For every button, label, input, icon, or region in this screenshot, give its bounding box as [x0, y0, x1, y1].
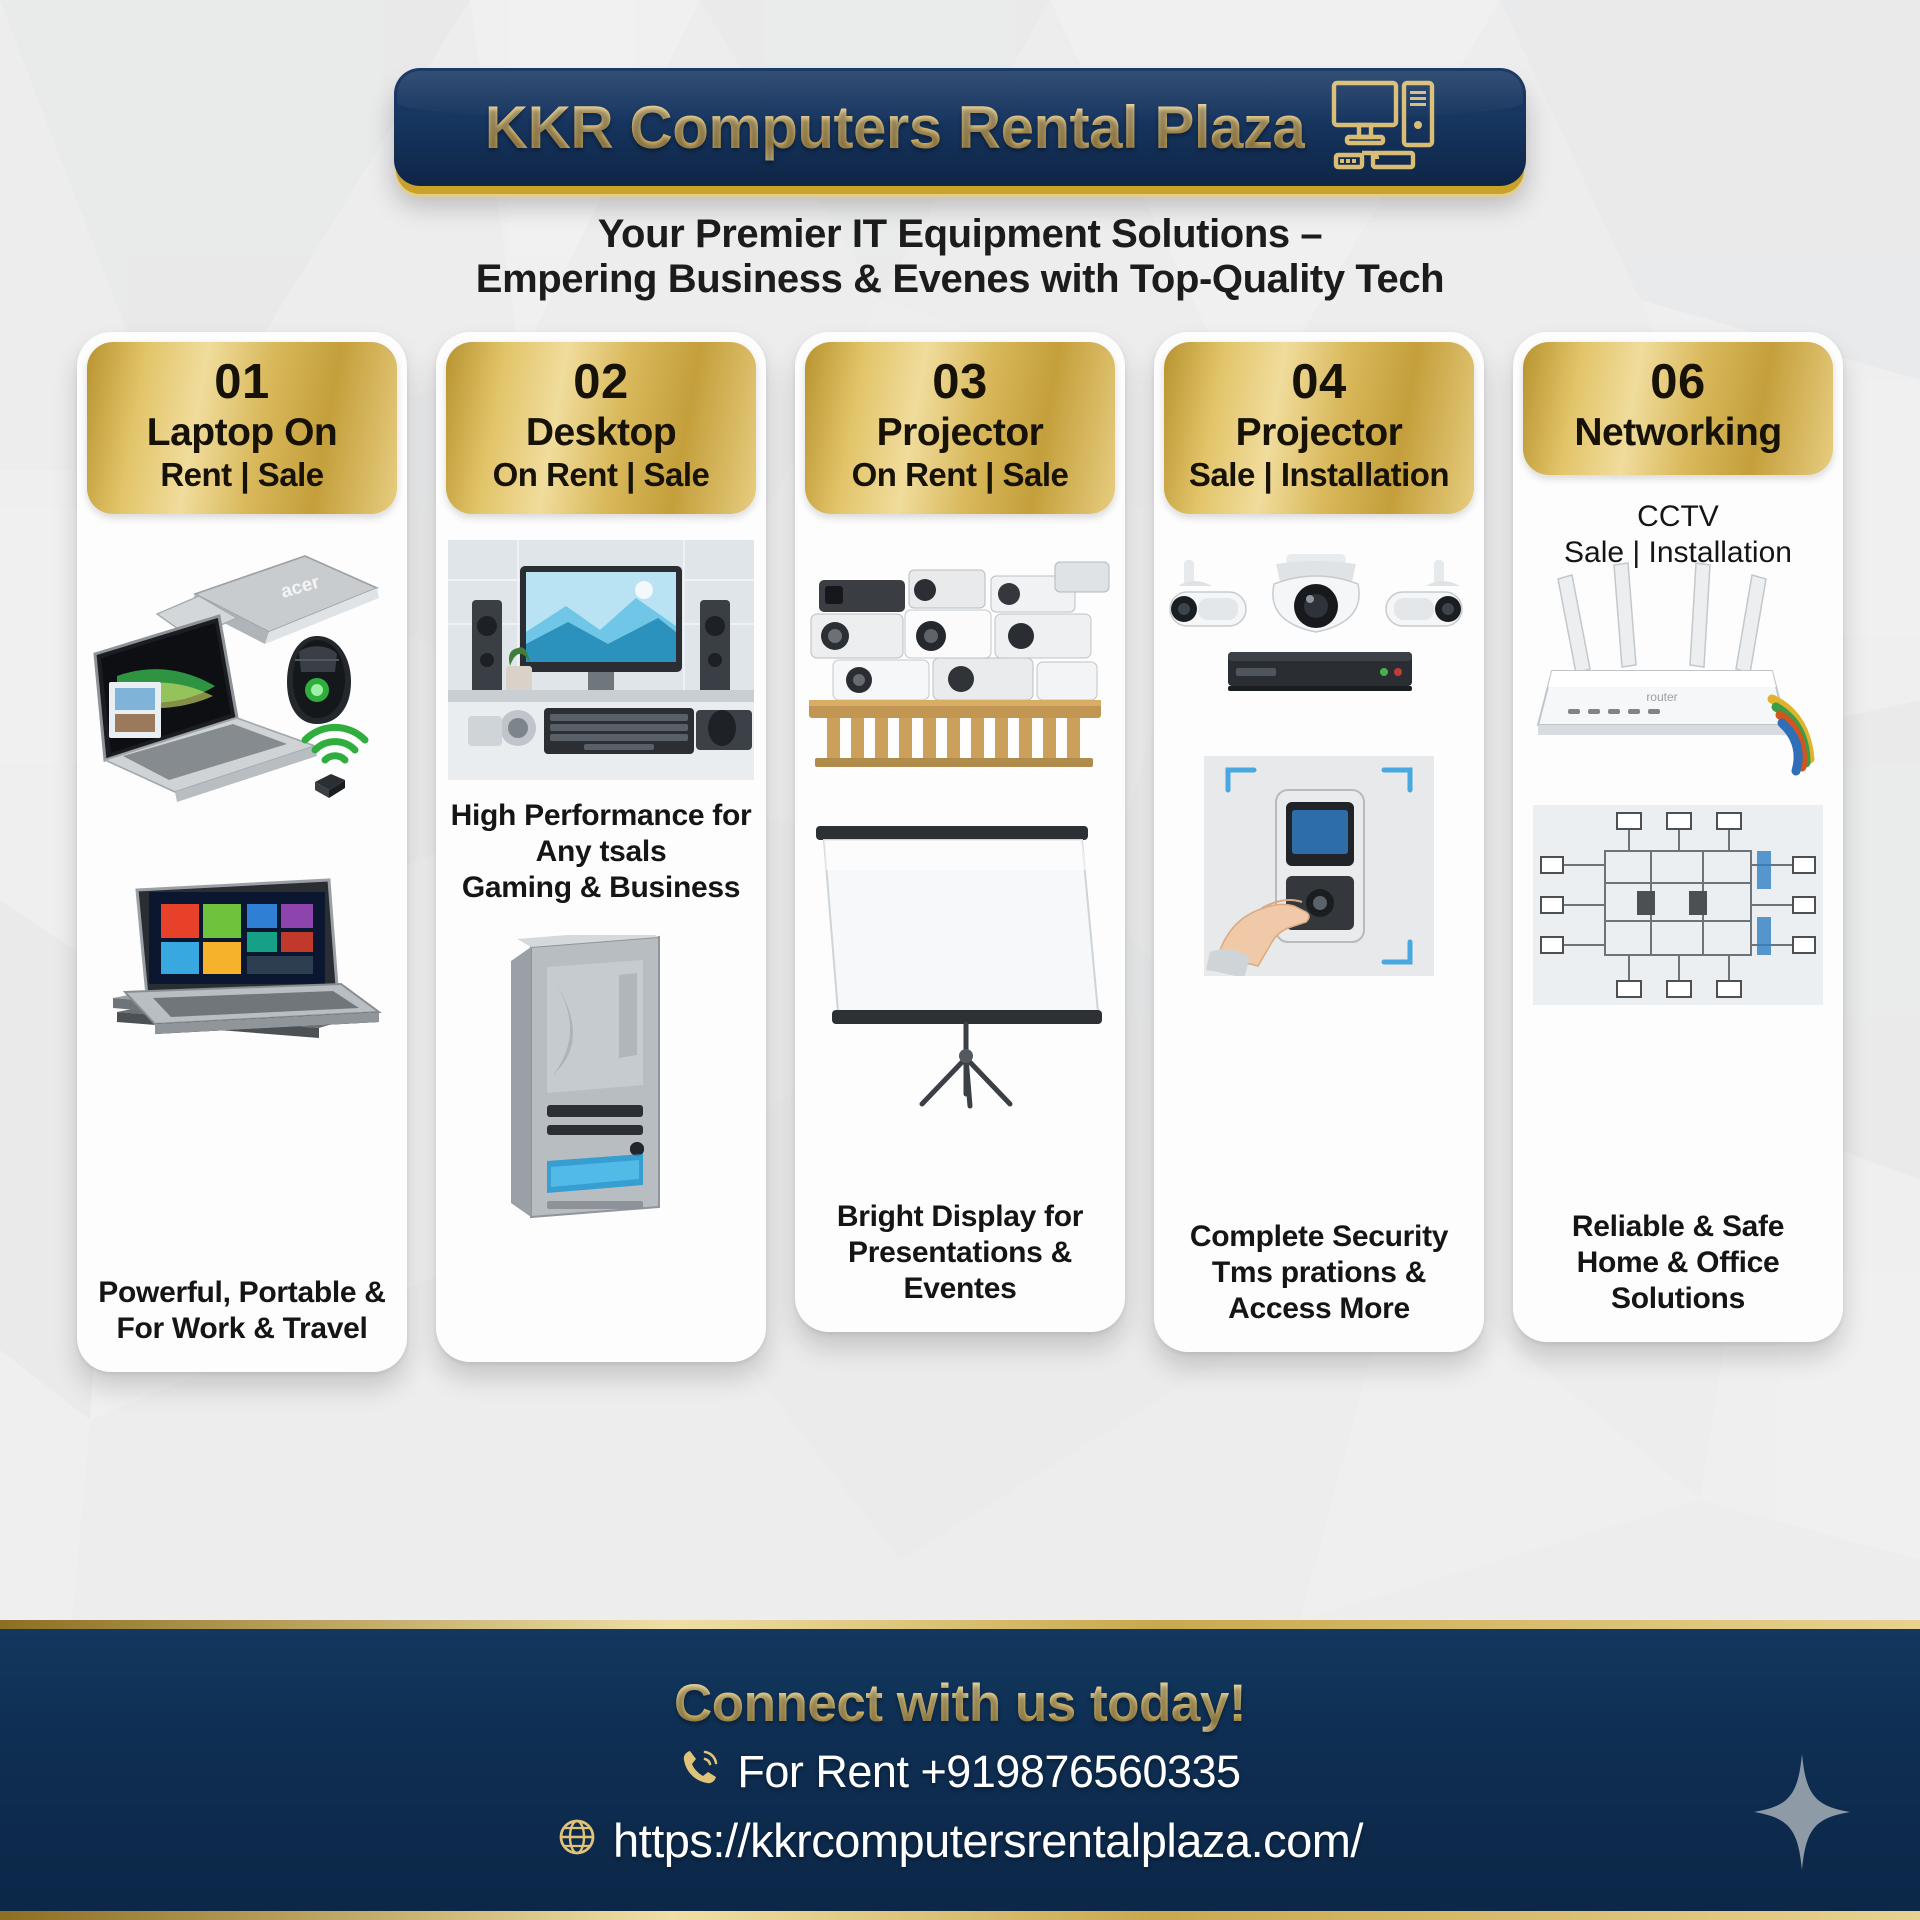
card-caption: Complete Security Tms prations & Access …: [1149, 1219, 1489, 1326]
card-title: Networking: [1531, 412, 1825, 455]
svg-text:router: router: [1646, 690, 1677, 704]
router-art: router: [1523, 549, 1833, 779]
card-subtitle: On Rent | Sale: [454, 457, 748, 494]
card-caption: Reliable & Safe Home & Office Solutions: [1508, 1209, 1848, 1316]
card-number: 01: [95, 356, 389, 409]
projector-screen-art: [805, 822, 1115, 1112]
service-card-laptop[interactable]: 01 Laptop On Rent | Sale acer: [77, 332, 407, 1372]
laptop-stack-art: [87, 862, 397, 1072]
card-title: Projector: [813, 412, 1107, 455]
service-card-desktop[interactable]: 02 Desktop On Rent | Sale: [436, 332, 766, 1362]
desktop-setup-art: [446, 540, 756, 780]
subtitle-line-1: Your Premier IT Equipment Solutions –: [0, 212, 1920, 257]
service-card-cctv[interactable]: 04 Projector Sale | Installation: [1154, 332, 1484, 1352]
card-caption: High Performance for Any tsals Gaming & …: [431, 798, 771, 905]
card-caption: Bright Display for Presentations & Event…: [790, 1199, 1130, 1306]
card-badge: 06 Networking: [1523, 342, 1833, 475]
laptop-and-mouse-art: acer: [87, 536, 397, 816]
page-title: KKR Computers Rental Plaza: [485, 93, 1306, 162]
card-subtitle: Rent | Sale: [95, 457, 389, 494]
header: KKR Computers Rental Plaza: [0, 0, 1920, 302]
card-title: Projector: [1172, 412, 1466, 455]
projectors-on-table-art: [805, 548, 1115, 768]
network-diagram-art: [1523, 805, 1833, 1005]
card-title: Laptop On: [95, 412, 389, 455]
pc-tower-art: [446, 935, 756, 1225]
card-number: 03: [813, 356, 1107, 409]
card-badge: 02 Desktop On Rent | Sale: [446, 342, 756, 514]
card-badge: 01 Laptop On Rent | Sale: [87, 342, 397, 514]
subtitle-line-2: Empering Business & Evenes with Top-Qual…: [0, 257, 1920, 302]
card-badge: 03 Projector On Rent | Sale: [805, 342, 1115, 514]
subtitle: Your Premier IT Equipment Solutions – Em…: [0, 212, 1920, 302]
card-badge: 04 Projector Sale | Installation: [1164, 342, 1474, 514]
service-card-networking[interactable]: 06 Networking CCTV Sale | Installation: [1513, 332, 1843, 1342]
card-title: Desktop: [454, 412, 748, 455]
access-control-reader-art: [1164, 756, 1474, 976]
card-subtitle: Sale | Installation: [1172, 457, 1466, 494]
title-banner: KKR Computers Rental Plaza: [394, 68, 1526, 186]
card-number: 02: [454, 356, 748, 409]
card-number: 06: [1531, 356, 1825, 409]
service-card-projector[interactable]: 03 Projector On Rent | Sale: [795, 332, 1125, 1332]
card-subtitle: On Rent | Sale: [813, 457, 1107, 494]
desktop-computer-icon: [1331, 79, 1435, 176]
card-caption: Powerful, Portable & For Work & Travel: [72, 1275, 412, 1346]
card-number: 04: [1172, 356, 1466, 409]
cctv-cameras-art: [1164, 548, 1474, 698]
service-cards: 01 Laptop On Rent | Sale acer: [0, 332, 1920, 1372]
